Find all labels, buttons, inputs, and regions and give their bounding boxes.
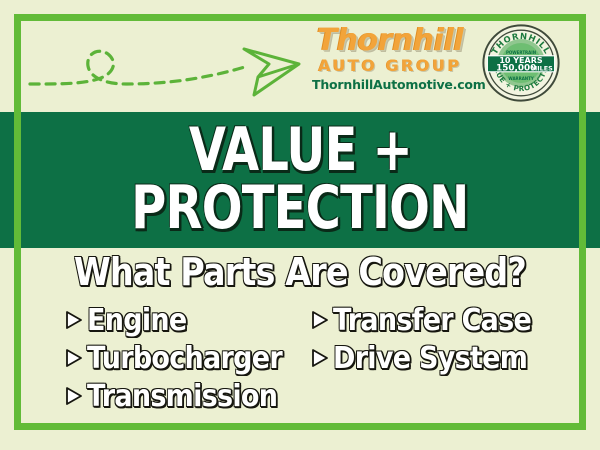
seal-powertrain-text: POWERTRAIN bbox=[506, 50, 536, 55]
brand-name: Thornhill bbox=[312, 26, 468, 56]
brand-subtitle: AUTO GROUP bbox=[312, 57, 468, 75]
main-title: VALUE + PROTECTION bbox=[0, 112, 600, 248]
seal-miles-unit: MILES bbox=[531, 65, 553, 73]
question-headline-text: What Parts Are Covered? bbox=[74, 250, 526, 294]
triangle-bullet-icon bbox=[308, 347, 330, 369]
part-label: Engine bbox=[87, 305, 186, 337]
title-line-1: VALUE + bbox=[188, 123, 411, 179]
brand-logo[interactable]: Thornhill AUTO GROUP ThornhillAutomotive… bbox=[312, 26, 468, 92]
list-item: Transfer Case bbox=[308, 302, 558, 340]
advertisement-banner: Thornhill AUTO GROUP ThornhillAutomotive… bbox=[0, 0, 600, 450]
part-label: Turbocharger bbox=[87, 343, 282, 375]
header: Thornhill AUTO GROUP ThornhillAutomotive… bbox=[0, 0, 600, 112]
triangle-bullet-icon bbox=[62, 347, 84, 369]
dashed-arrow-path-icon bbox=[22, 22, 312, 107]
brand-website-url: ThornhillAutomotive.com bbox=[312, 77, 468, 92]
title-line-2: PROTECTION bbox=[131, 181, 468, 237]
covered-parts-column-left: Engine Turbocharger Transmission bbox=[62, 302, 308, 416]
question-headline: What Parts Are Covered? bbox=[0, 250, 600, 294]
warranty-seal-badge: THORNHILL VALUE + PROTECTION POWERTRAIN … bbox=[481, 23, 561, 103]
list-item: Transmission bbox=[62, 378, 308, 416]
list-item: Turbocharger bbox=[62, 340, 308, 378]
part-label: Transmission bbox=[87, 381, 277, 413]
covered-parts-column-right: Transfer Case Drive System bbox=[308, 302, 558, 416]
triangle-bullet-icon bbox=[308, 309, 330, 331]
part-label: Drive System bbox=[333, 343, 527, 375]
triangle-bullet-icon bbox=[62, 385, 84, 407]
part-label: Transfer Case bbox=[333, 305, 531, 337]
covered-parts-list: Engine Turbocharger Transmission Tran bbox=[0, 302, 600, 416]
seal-warranty-text: WARRANTY bbox=[508, 76, 534, 81]
list-item: Drive System bbox=[308, 340, 558, 378]
list-item: Engine bbox=[62, 302, 308, 340]
triangle-bullet-icon bbox=[62, 309, 84, 331]
